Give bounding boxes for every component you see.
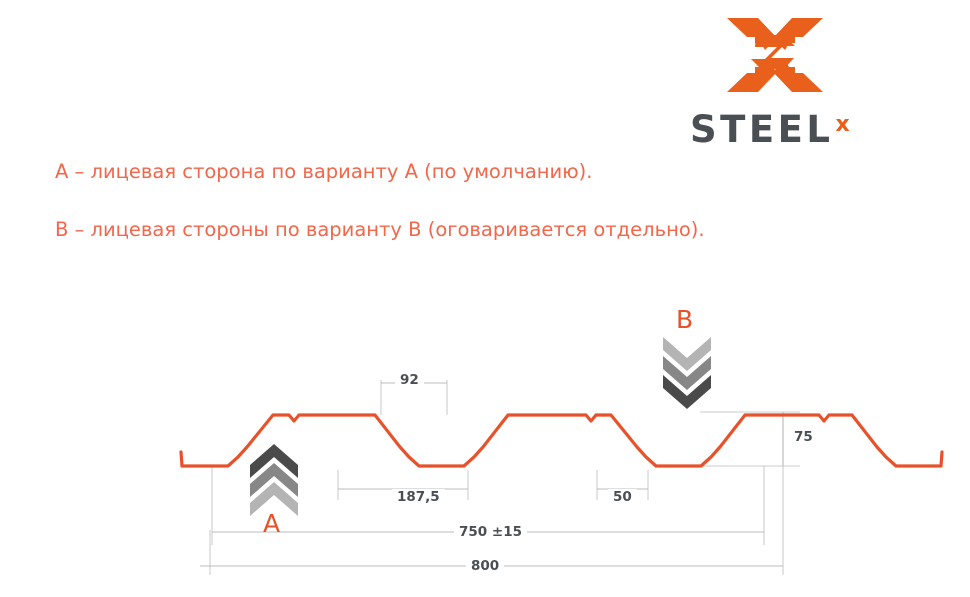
dimension-label-rib-pitch: 187,5 (392, 489, 445, 505)
side-marker-label-a: A (263, 509, 280, 538)
side-marker-label-b: B (676, 305, 693, 334)
marker-b-chevron-icon (663, 337, 711, 409)
marker-a-chevron-icon (250, 444, 298, 516)
profile-outline-path (181, 415, 942, 466)
dimension-label-total-width: 800 (466, 558, 504, 574)
dimension-label-useful-width: 750 ±15 (454, 524, 527, 540)
dimension-label-crest-width: 92 (395, 372, 424, 388)
profile-cross-section-drawing (0, 0, 970, 597)
dimension-label-valley-width: 50 (608, 489, 637, 505)
extension-lines (210, 380, 800, 575)
dimension-label-profile-height: 75 (789, 429, 818, 445)
